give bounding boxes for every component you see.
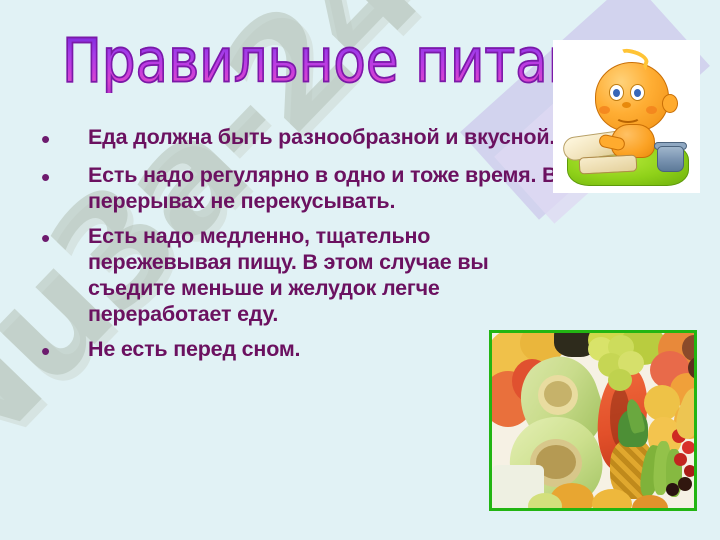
bullet-marker-icon: • (30, 124, 88, 154)
bullet-marker-icon: • (30, 223, 88, 253)
baby-right-cheek-shape (646, 106, 657, 114)
list-item: • Не есть перед сном. (30, 336, 560, 366)
bullet-text: Есть надо медленно, тщательно пережевыва… (88, 223, 560, 327)
bullet-marker-icon: • (30, 162, 88, 192)
bullet-text: Есть надо регулярно в одно и тоже время.… (88, 162, 560, 214)
jar-shape (657, 146, 684, 172)
cartoon-baby-image (553, 40, 700, 193)
second-bread-slice-shape (579, 154, 638, 174)
baby-nose-shape (622, 102, 631, 108)
list-item: • Еда должна быть разнообразной и вкусно… (30, 124, 560, 154)
baby-left-pupil-shape (613, 89, 620, 97)
slide-title: Правильное питание (62, 27, 622, 93)
list-item: • Есть надо медленно, тщательно пережевы… (30, 223, 560, 327)
bullet-marker-icon: • (30, 336, 88, 366)
assorted-fruits-image (489, 330, 697, 511)
slide-title-container: Правильное питание (62, 27, 622, 93)
baby-right-pupil-shape (634, 89, 641, 97)
presentation-slide: Nu3a-24 Nu3a-24 Правильное питание • Еда… (0, 0, 720, 540)
baby-mouth-shape (615, 110, 641, 123)
list-item: • Есть надо регулярно в одно и тоже врем… (30, 162, 560, 214)
bullet-text: Еда должна быть разнообразной и вкусной. (88, 124, 560, 150)
fruit-photo-canvas (492, 333, 694, 508)
bullet-list: • Еда должна быть разнообразной и вкусно… (30, 124, 560, 374)
baby-left-cheek-shape (599, 106, 610, 114)
baby-ear-shape (662, 94, 678, 113)
